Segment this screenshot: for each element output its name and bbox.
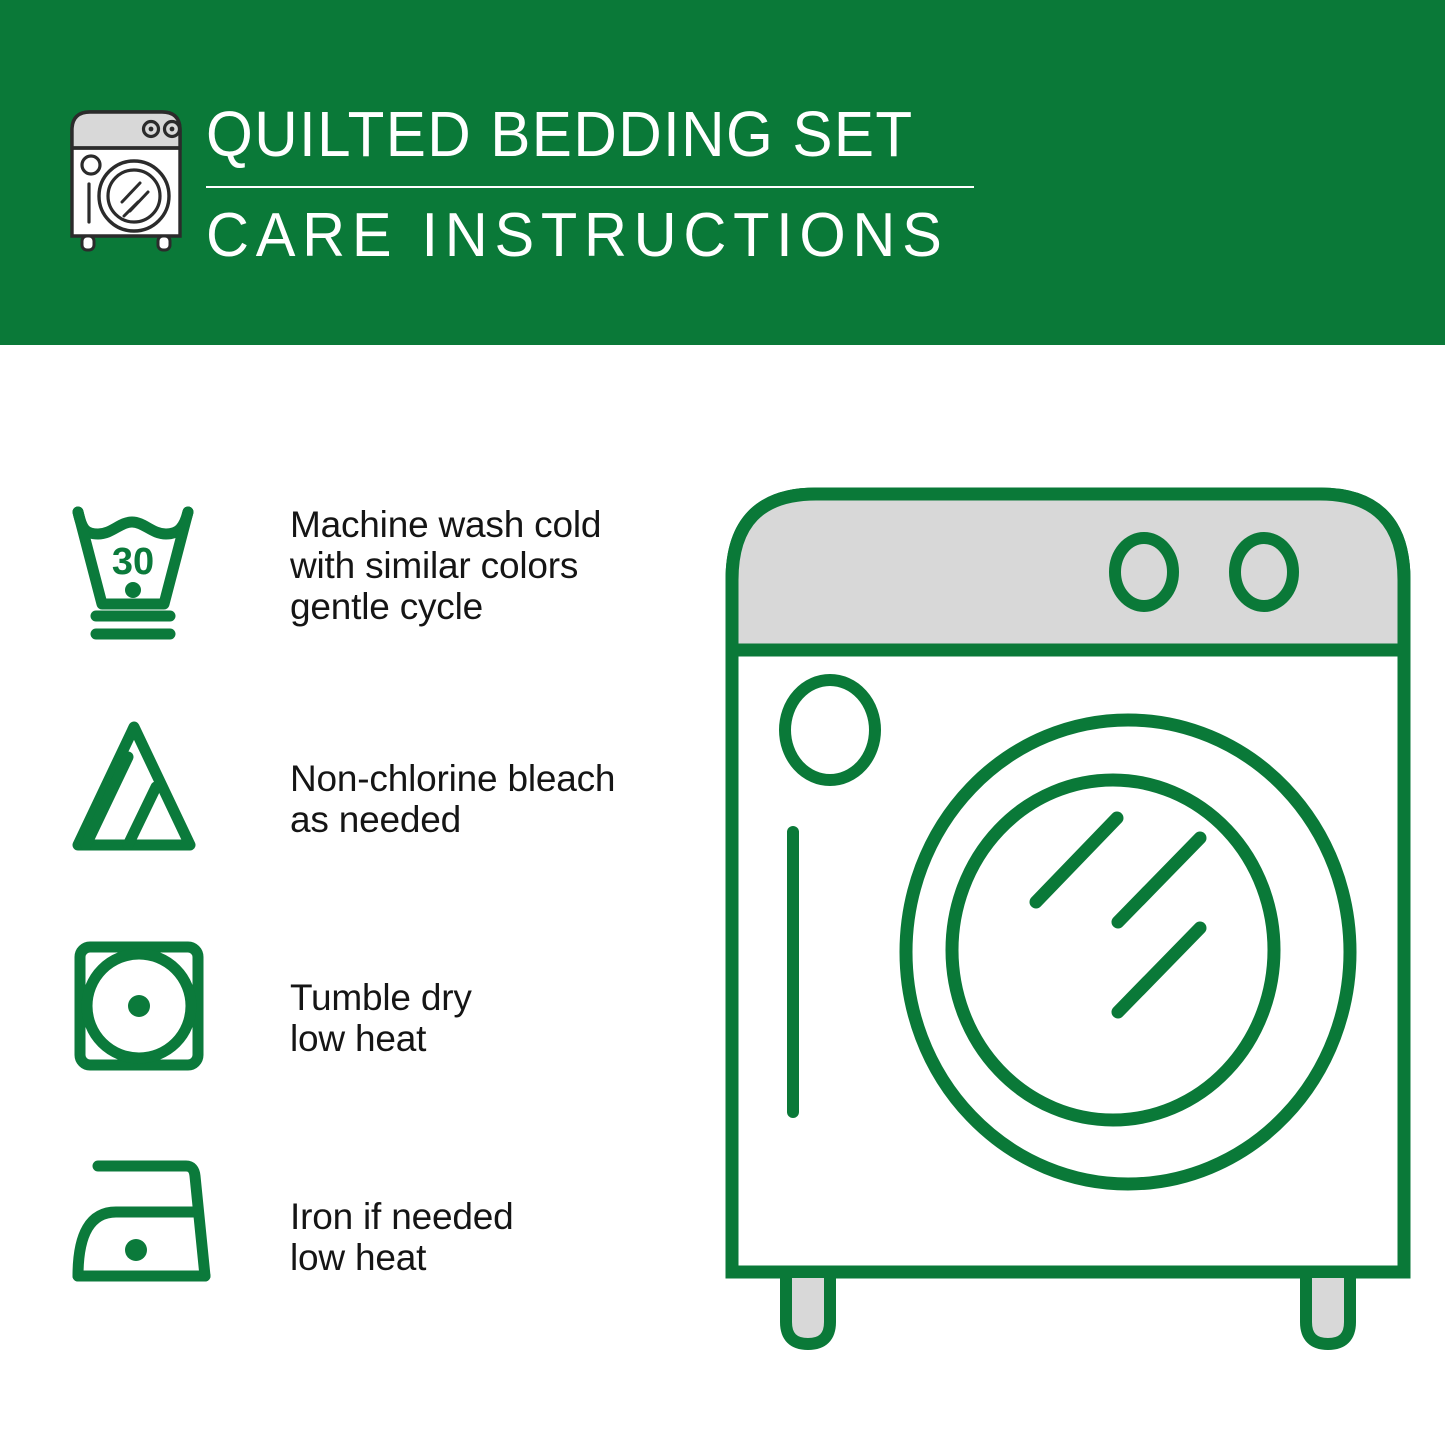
page-subtitle: CARE INSTRUCTIONS xyxy=(206,200,974,272)
care-text-line: with similar colors xyxy=(290,545,601,586)
washing-machine-icon xyxy=(62,104,190,252)
header-title-group: QUILTED BEDDING SET CARE INSTRUCTIONS xyxy=(206,96,1006,272)
care-text-line: low heat xyxy=(290,1237,513,1278)
care-text-line: Machine wash cold xyxy=(290,504,601,545)
care-text-line: Non-chlorine bleach xyxy=(290,758,615,799)
bleach-triangle-icon xyxy=(68,715,228,865)
wash-tub-30-icon: 30 xyxy=(68,500,228,650)
care-instruction-list: 30 Machine wash cold with similar colors… xyxy=(0,345,700,1445)
care-text-line: Iron if needed xyxy=(290,1196,513,1237)
care-item-tumble-dry-label: Tumble dry low heat xyxy=(290,977,472,1059)
care-text-line: gentle cycle xyxy=(290,586,601,627)
wash-temperature-label: 30 xyxy=(112,541,154,583)
care-item-machine-wash-label: Machine wash cold with similar colors ge… xyxy=(290,504,601,627)
care-text-line: as needed xyxy=(290,799,615,840)
title-divider xyxy=(206,186,974,188)
front-load-washing-machine-illustration xyxy=(718,472,1418,1362)
care-item-bleach-label: Non-chlorine bleach as needed xyxy=(290,758,615,840)
tumble-dry-icon xyxy=(68,935,228,1085)
care-instructions-infographic: QUILTED BEDDING SET CARE INSTRUCTIONS xyxy=(0,0,1445,1445)
care-text-line: low heat xyxy=(290,1018,472,1059)
header-banner: QUILTED BEDDING SET CARE INSTRUCTIONS xyxy=(0,0,1445,345)
care-text-line: Tumble dry xyxy=(290,977,472,1018)
page-title: QUILTED BEDDING SET xyxy=(206,96,958,172)
care-item-iron-label: Iron if needed low heat xyxy=(290,1196,513,1278)
iron-icon xyxy=(68,1150,228,1300)
